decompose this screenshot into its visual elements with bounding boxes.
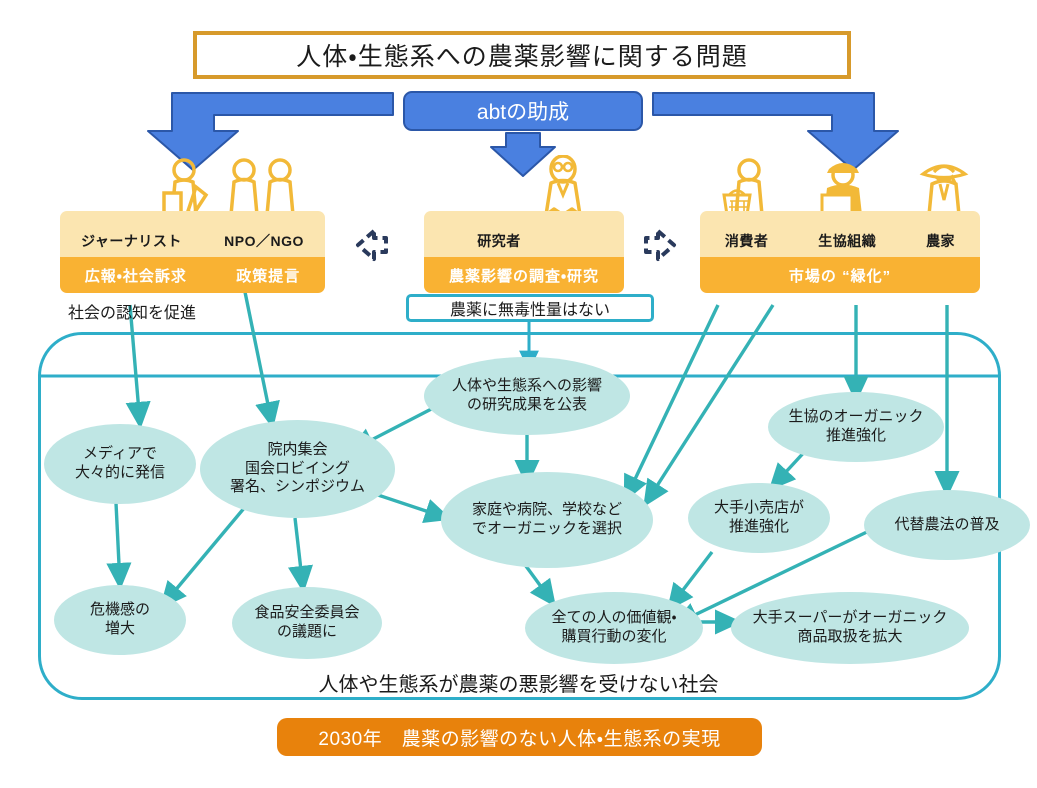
farmer-icon [918,157,970,217]
actor-label-consumer: 消費者 [725,231,769,257]
outcome-committee-text: 食品安全委員会 の議題に [248,604,365,642]
market-actor-labels: 消費者 生協組織 農家 [700,211,980,257]
action-market-greening: 市場の “緑化” [789,265,891,286]
outcome-supermarket-text: 大手スーパーがオーガニック 商品取扱を拡大 [747,609,954,647]
actor-group-advocacy: ジャーナリスト NPO／NGO 広報・社会訴求 政策提言 [60,211,325,293]
outcome-crisis: 危機感の 増大 [54,585,186,655]
outcome-organic-pick: 家庭や病院、学校など でオーガニックを選択 [441,472,653,568]
outcome-media: メディアで 大々的に発信 [44,424,196,504]
advocacy-actor-labels: ジャーナリスト NPO／NGO [60,211,325,257]
advocacy-icon-row [60,159,325,211]
actor-label-researcher: 研究者 [477,231,521,257]
goal-text: 2030年 農薬の影響のない人体・生態系の実現 [318,724,720,751]
researcher-icon [536,155,590,217]
claim-badge: 農薬に無毒性量はない [406,294,654,322]
outcome-committee: 食品安全委員会 の議題に [232,587,382,659]
outcome-retail-push: 大手小売店が 推進強化 [688,483,830,553]
journalist-icon [156,157,212,217]
research-actor-labels: 研究者 [424,211,624,257]
right-arrow-icon [640,223,684,267]
two-people-icon [224,157,300,217]
action-policy-proposal: 政策提言 [236,265,300,286]
outcome-values: 全ての人の価値観・ 購買行動の変化 [525,592,703,664]
outcome-alt-farming-text: 代替農法の普及 [888,516,1005,535]
actor-group-market: 消費者 生協組織 農家 市場の “緑化” [700,211,980,293]
action-pesticide-research: 農薬影響の調査・研究 [449,265,599,286]
market-icon-row [700,159,980,211]
actor-group-research: 研究者 農薬影響の調査・研究 [424,211,624,293]
coop-staff-icon [813,155,873,217]
outcome-coop-organic: 生協のオーガニック 推進強化 [768,392,944,462]
outcome-crisis-text: 危機感の 増大 [84,601,156,639]
outcome-publish-text: 人体や生態系への影響 の研究成果を公表 [446,377,608,415]
funding-badge: abtの助成 [403,91,643,131]
actor-label-coop: 生協組織 [818,231,876,257]
diagram-canvas: 人体・生態系への農薬影響に関する問題 abtの助成 ジャーナリスト NPO／NG… [0,0,1037,788]
left-arrow-icon [348,223,392,267]
research-icon-row [424,159,624,211]
page-title-text: 人体・生態系への農薬影響に関する問題 [296,37,748,73]
claim-text: 農薬に無毒性量はない [450,296,610,320]
society-label: 人体や生態系が農薬の悪影響を受けない社会 [0,668,1037,697]
actor-label-farmer: 農家 [926,231,955,257]
goal-banner: 2030年 農薬の影響のない人体・生態系の実現 [277,718,762,756]
actor-label-npo-ngo: NPO／NGO [224,231,304,257]
outcome-coop-organic-text: 生協のオーガニック 推進強化 [782,408,929,446]
research-action-bar: 農薬影響の調査・研究 [424,257,624,293]
outcome-organic-pick-text: 家庭や病院、学校など でオーガニックを選択 [466,501,628,539]
market-action-bar: 市場の “緑化” [700,257,980,293]
outcome-publish: 人体や生態系への影響 の研究成果を公表 [424,357,630,435]
outcome-lobby: 院内集会 国会ロビイング 署名、シンポジウム [200,420,395,518]
consumer-basket-icon [718,157,776,217]
caption-social-awareness: 社会の認知を促進 [68,299,196,323]
outcome-supermarket: 大手スーパーがオーガニック 商品取扱を拡大 [731,592,969,664]
outcome-retail-push-text: 大手小売店が 推進強化 [708,499,810,537]
outcome-values-text: 全ての人の価値観・ 購買行動の変化 [545,609,682,647]
actor-label-journalist: ジャーナリスト [81,231,182,257]
page-title: 人体・生態系への農薬影響に関する問題 [193,31,851,79]
outcome-media-text: メディアで 大々的に発信 [69,445,171,483]
funding-label: abtの助成 [477,96,569,126]
outcome-lobby-text: 院内集会 国会ロビイング 署名、シンポジウム [224,441,371,497]
outcome-alt-farming: 代替農法の普及 [864,490,1030,560]
action-public-relations: 広報・社会訴求 [85,265,187,286]
advocacy-action-bar: 広報・社会訴求 政策提言 [60,257,325,293]
